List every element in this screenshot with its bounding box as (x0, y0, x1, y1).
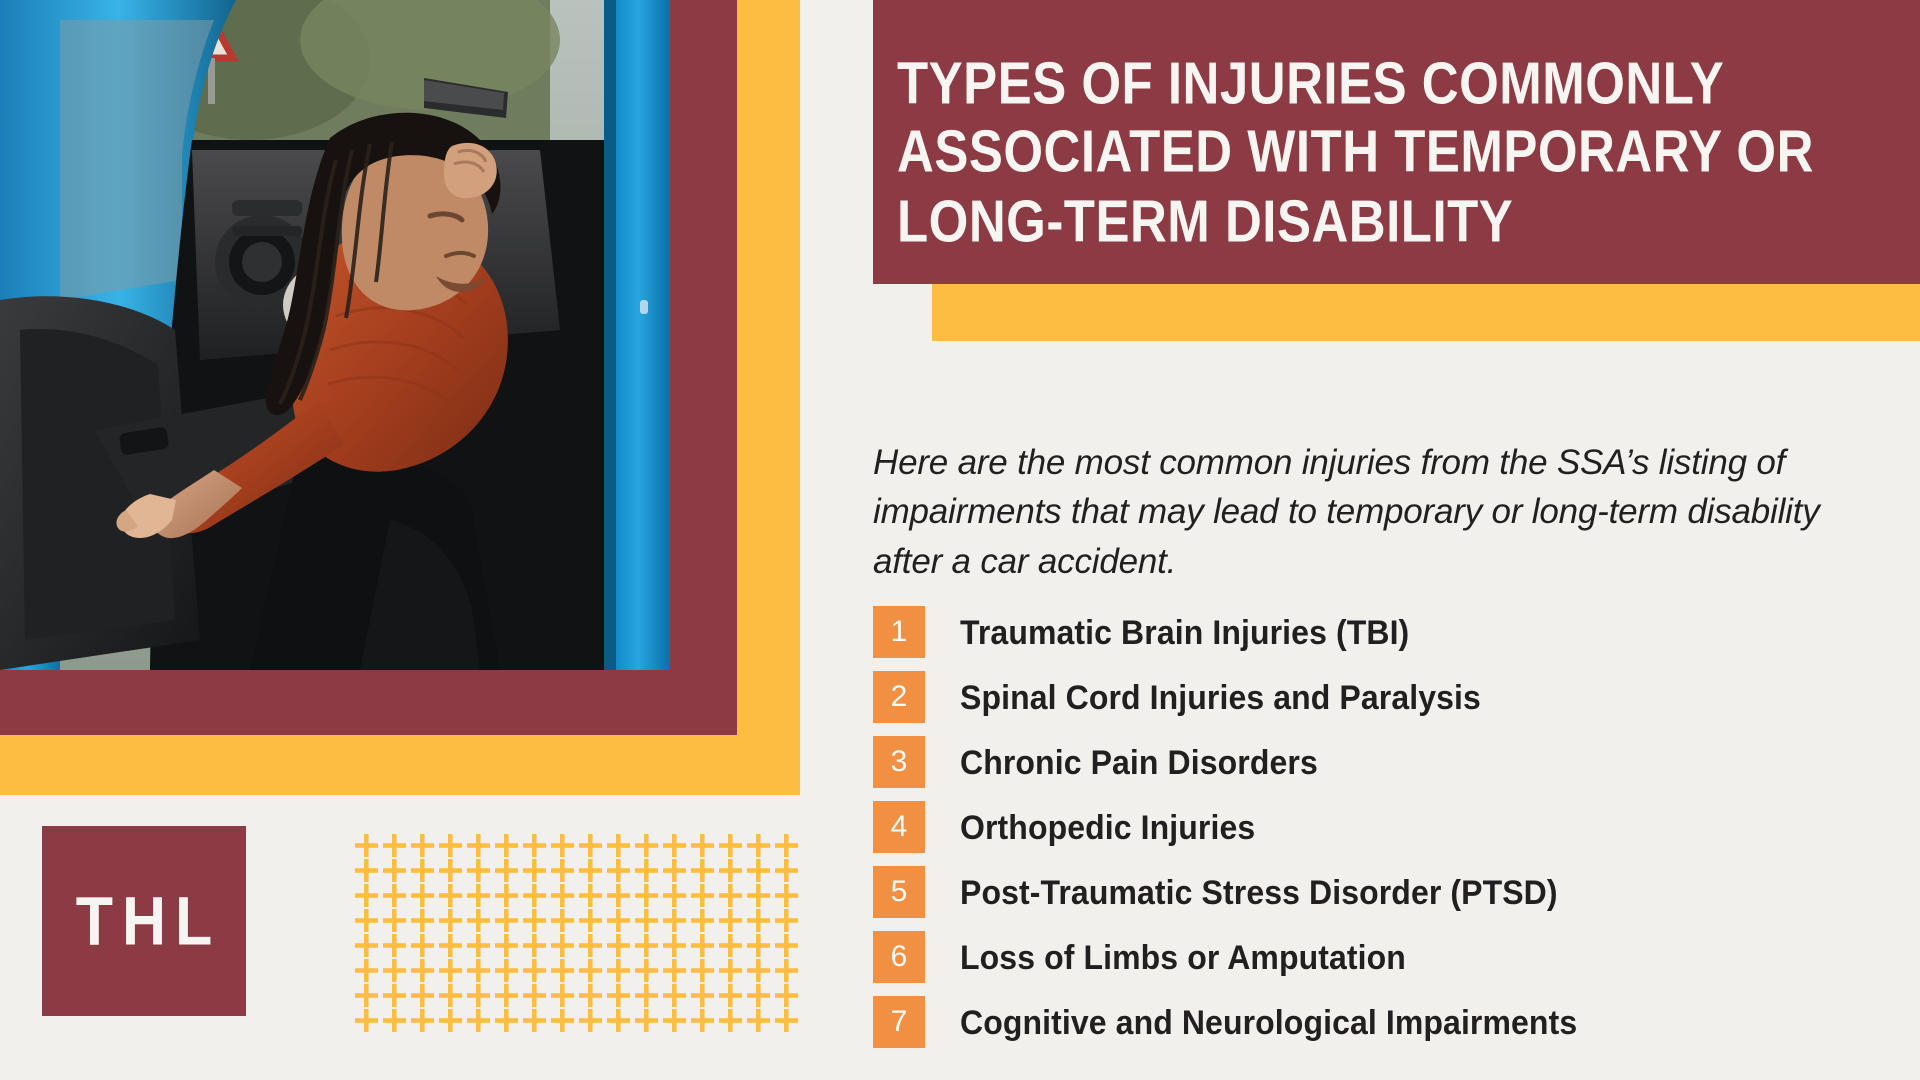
injury-list: 1 Traumatic Brain Injuries (TBI) 2 Spina… (873, 600, 1903, 1055)
list-item-label: Spinal Cord Injuries and Paralysis (960, 677, 1481, 717)
title-band: Types of Injuries Commonly Associated wi… (873, 0, 1920, 284)
infographic-canvas: THL Types of Injuries Comm (0, 0, 1920, 1080)
list-item-label: Orthopedic Injuries (960, 807, 1255, 847)
list-item-number: 5 (873, 866, 925, 918)
thl-logo[interactable]: THL (42, 826, 246, 1016)
title-accent-bar (932, 284, 1920, 341)
intro-paragraph: Here are the most common injuries from t… (873, 438, 1897, 586)
list-item[interactable]: 6 Loss of Limbs or Amputation (873, 925, 1903, 989)
list-item-number: 7 (873, 996, 925, 1048)
hero-photo (0, 0, 670, 670)
plus-pattern-decoration (355, 834, 803, 1034)
list-item-label: Traumatic Brain Injuries (TBI) (960, 612, 1409, 652)
list-item[interactable]: 5 Post-Traumatic Stress Disorder (PTSD) (873, 860, 1903, 924)
list-item-number: 3 (873, 736, 925, 788)
list-item-number: 1 (873, 606, 925, 658)
list-item[interactable]: 2 Spinal Cord Injuries and Paralysis (873, 665, 1903, 729)
list-item-label: Chronic Pain Disorders (960, 742, 1318, 782)
list-item[interactable]: 3 Chronic Pain Disorders (873, 730, 1903, 794)
page-title: Types of Injuries Commonly Associated wi… (897, 49, 1874, 256)
thl-logo-text: THL (67, 887, 222, 955)
list-item-label: Post-Traumatic Stress Disorder (PTSD) (960, 872, 1558, 912)
list-item-number: 2 (873, 671, 925, 723)
list-item-number: 6 (873, 931, 925, 983)
list-item-label: Loss of Limbs or Amputation (960, 937, 1406, 977)
list-item-number: 4 (873, 801, 925, 853)
list-item-label: Cognitive and Neurological Impairments (960, 1002, 1577, 1042)
list-item[interactable]: 1 Traumatic Brain Injuries (TBI) (873, 600, 1903, 664)
list-item[interactable]: 7 Cognitive and Neurological Impairments (873, 990, 1903, 1054)
list-item[interactable]: 4 Orthopedic Injuries (873, 795, 1903, 859)
